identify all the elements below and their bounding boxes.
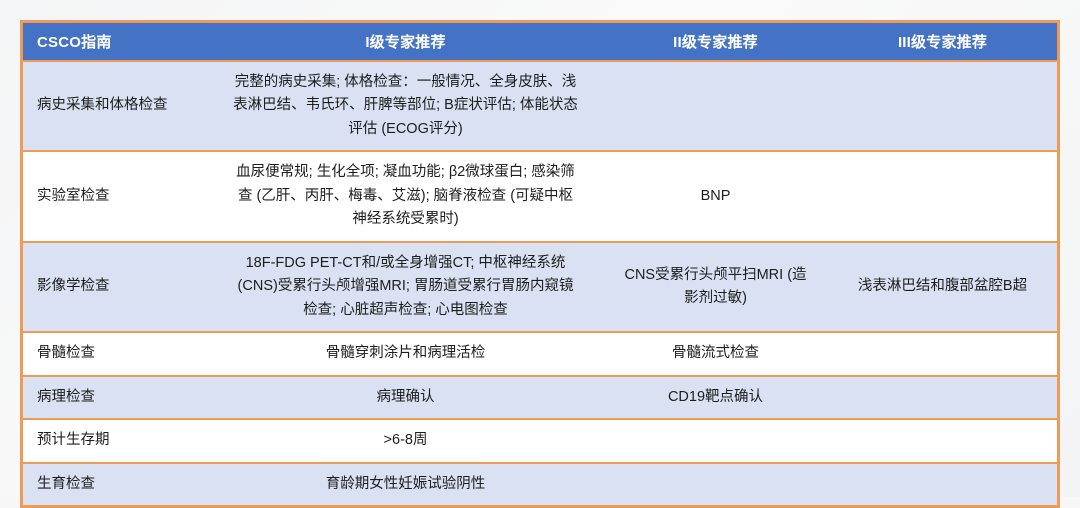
cell-text: 骨髓流式检查 bbox=[672, 342, 759, 365]
cell-level1: 病理确认 bbox=[208, 376, 603, 419]
cell-level1: 育龄期女性妊娠试验阴性 bbox=[208, 463, 603, 505]
cell-text: CNS受累行头颅平扫MRI (造影剂过敏) bbox=[618, 264, 813, 311]
row-label-fertility: 生育检查 bbox=[23, 463, 208, 505]
table-row: 生育检查 育龄期女性妊娠试验阴性 bbox=[23, 463, 1057, 505]
table-body: 病史采集和体格检查 完整的病史采集; 体格检查：一般情况、全身皮肤、浅表淋巴结、… bbox=[23, 61, 1057, 505]
row-label-bone-marrow: 骨髓检查 bbox=[23, 332, 208, 375]
page-background: CSCO指南 I级专家推荐 II级专家推荐 III级专家推荐 病史采集和体格检查… bbox=[0, 0, 1080, 497]
cell-text: 骨髓穿刺涂片和病理活检 bbox=[326, 342, 486, 365]
cell-level3 bbox=[828, 151, 1057, 241]
cell-text: 血尿便常规; 生化全项; 凝血功能; β2微球蛋白; 感染筛查 (乙肝、丙肝、梅… bbox=[233, 161, 578, 231]
cell-level1: >6-8周 bbox=[208, 419, 603, 462]
cell-level1: 18F-FDG PET-CT和/或全身增强CT; 中枢神经系统 (CNS)受累行… bbox=[208, 242, 603, 332]
table-row: 预计生存期 >6-8周 bbox=[23, 419, 1057, 462]
table-row: 骨髓检查 骨髓穿刺涂片和病理活检 骨髓流式检查 bbox=[23, 332, 1057, 375]
cell-text: 病理确认 bbox=[377, 386, 435, 409]
column-header-level-2: II级专家推荐 bbox=[603, 23, 828, 61]
cell-text: 育龄期女性妊娠试验阴性 bbox=[326, 473, 486, 496]
row-label-expected-survival: 预计生存期 bbox=[23, 419, 208, 462]
cell-level3 bbox=[828, 332, 1057, 375]
cell-text: >6-8周 bbox=[384, 429, 428, 452]
table-row: 影像学检查 18F-FDG PET-CT和/或全身增强CT; 中枢神经系统 (C… bbox=[23, 242, 1057, 332]
cell-level2 bbox=[603, 61, 828, 151]
table-header: CSCO指南 I级专家推荐 II级专家推荐 III级专家推荐 bbox=[23, 23, 1057, 61]
cell-level3: 浅表淋巴结和腹部盆腔B超 bbox=[828, 242, 1057, 332]
cell-level3 bbox=[828, 419, 1057, 462]
cell-text: 完整的病史采集; 体格检查：一般情况、全身皮肤、浅表淋巴结、韦氏环、肝脾等部位;… bbox=[233, 71, 578, 141]
cell-level2: CD19靶点确认 bbox=[603, 376, 828, 419]
cell-level3 bbox=[828, 463, 1057, 505]
table-row: 病史采集和体格检查 完整的病史采集; 体格检查：一般情况、全身皮肤、浅表淋巴结、… bbox=[23, 61, 1057, 151]
cell-level2: CNS受累行头颅平扫MRI (造影剂过敏) bbox=[603, 242, 828, 332]
csco-guideline-table: CSCO指南 I级专家推荐 II级专家推荐 III级专家推荐 病史采集和体格检查… bbox=[23, 23, 1057, 505]
cell-level2: 骨髓流式检查 bbox=[603, 332, 828, 375]
cell-text: 18F-FDG PET-CT和/或全身增强CT; 中枢神经系统 (CNS)受累行… bbox=[233, 252, 578, 322]
csco-guideline-table-frame: CSCO指南 I级专家推荐 II级专家推荐 III级专家推荐 病史采集和体格检查… bbox=[20, 20, 1060, 508]
row-label-imaging: 影像学检查 bbox=[23, 242, 208, 332]
column-header-level-1: I级专家推荐 bbox=[208, 23, 603, 61]
table-row: 病理检查 病理确认 CD19靶点确认 bbox=[23, 376, 1057, 419]
header-row: CSCO指南 I级专家推荐 II级专家推荐 III级专家推荐 bbox=[23, 23, 1057, 61]
cell-level3 bbox=[828, 376, 1057, 419]
cell-text: CD19靶点确认 bbox=[668, 386, 763, 409]
cell-level2 bbox=[603, 463, 828, 505]
cell-text: BNP bbox=[701, 185, 731, 208]
cell-level2 bbox=[603, 419, 828, 462]
cell-level2: BNP bbox=[603, 151, 828, 241]
column-header-level-3: III级专家推荐 bbox=[828, 23, 1057, 61]
row-label-pathology: 病理检查 bbox=[23, 376, 208, 419]
row-label-laboratory: 实验室检查 bbox=[23, 151, 208, 241]
column-header-guideline: CSCO指南 bbox=[23, 23, 208, 61]
row-label-history-physical: 病史采集和体格检查 bbox=[23, 61, 208, 151]
cell-level1: 血尿便常规; 生化全项; 凝血功能; β2微球蛋白; 感染筛查 (乙肝、丙肝、梅… bbox=[208, 151, 603, 241]
table-row: 实验室检查 血尿便常规; 生化全项; 凝血功能; β2微球蛋白; 感染筛查 (乙… bbox=[23, 151, 1057, 241]
cell-text: 浅表淋巴结和腹部盆腔B超 bbox=[858, 275, 1027, 298]
cell-level1: 骨髓穿刺涂片和病理活检 bbox=[208, 332, 603, 375]
cell-level3 bbox=[828, 61, 1057, 151]
cell-level1: 完整的病史采集; 体格检查：一般情况、全身皮肤、浅表淋巴结、韦氏环、肝脾等部位;… bbox=[208, 61, 603, 151]
